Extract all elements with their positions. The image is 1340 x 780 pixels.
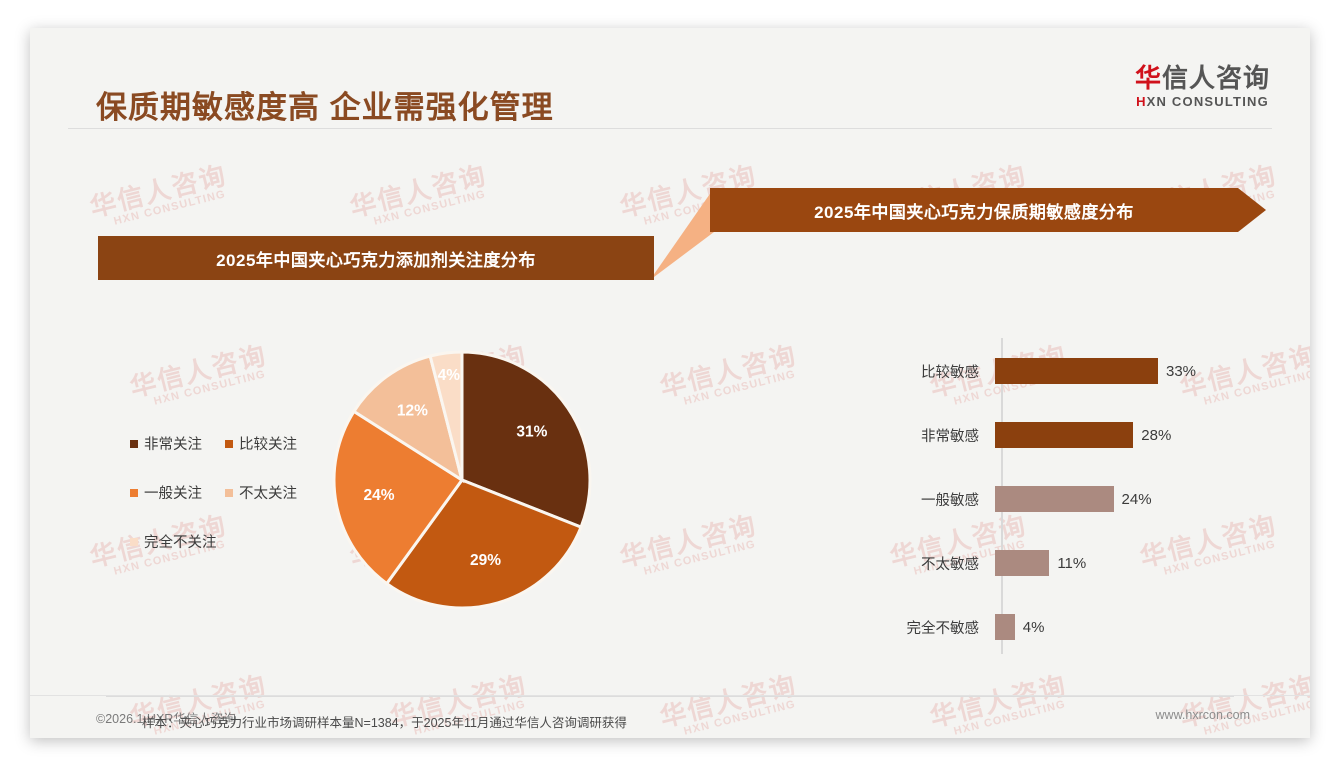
slide-canvas: 华信人咨询HXN CONSULTING华信人咨询HXN CONSULTING华信…	[30, 28, 1310, 738]
pie-slice-label: 12%	[397, 403, 428, 420]
bar-fill[interactable]	[995, 358, 1158, 384]
logo-english-text: HXN CONSULTING	[1135, 95, 1270, 109]
pie-chart: 31%29%24%12%4%	[332, 350, 592, 610]
banner-left: 2025年中国夹心巧克力添加剂关注度分布	[98, 236, 654, 280]
bar-chart-row[interactable]: 不太敏感11%	[890, 550, 1230, 576]
bar-track: 11%	[995, 550, 1086, 576]
bar-chart: 比较敏感33%非常敏感28%一般敏感24%不太敏感11%完全不敏感4%	[890, 328, 1230, 668]
logo-en-red: H	[1136, 94, 1147, 109]
pie-slice-label: 24%	[364, 487, 395, 504]
company-logo: 华信人咨询 HXN CONSULTING	[1135, 64, 1270, 109]
bar-fill[interactable]	[995, 550, 1049, 576]
bar-category-label: 一般敏感	[890, 489, 995, 510]
bar-track: 28%	[995, 422, 1171, 448]
pie-legend-label: 非常关注	[144, 433, 202, 454]
legend-swatch-icon	[130, 538, 138, 546]
banner-connector	[650, 188, 714, 280]
pie-legend-item[interactable]: 比较关注	[225, 433, 320, 454]
legend-swatch-icon	[225, 440, 233, 448]
bar-category-label: 完全不敏感	[890, 617, 995, 638]
bar-chart-row[interactable]: 比较敏感33%	[890, 358, 1230, 384]
bar-value-label: 24%	[1122, 491, 1152, 508]
bar-category-label: 非常敏感	[890, 425, 995, 446]
pie-slice-label: 31%	[516, 424, 547, 441]
banner-right-label: 2025年中国夹心巧克力保质期敏感度分布	[710, 188, 1238, 232]
pie-chart-svg: 31%29%24%12%4%	[332, 350, 592, 610]
pie-legend-item[interactable]: 一般关注	[130, 482, 225, 503]
footer-website: www.hxrcon.com	[1156, 708, 1250, 722]
bar-fill[interactable]	[995, 614, 1015, 640]
bar-value-label: 28%	[1141, 427, 1171, 444]
legend-swatch-icon	[130, 489, 138, 497]
bar-category-label: 比较敏感	[890, 361, 995, 382]
pie-legend-item[interactable]: 完全不关注	[130, 531, 225, 552]
header-divider	[68, 128, 1272, 129]
bar-chart-row[interactable]: 完全不敏感4%	[890, 614, 1230, 640]
pie-legend-item[interactable]: 不太关注	[225, 482, 320, 503]
bar-category-label: 不太敏感	[890, 553, 995, 574]
legend-swatch-icon	[225, 489, 233, 497]
bar-track: 4%	[995, 614, 1044, 640]
pie-legend-label: 不太关注	[239, 482, 297, 503]
bar-fill[interactable]	[995, 422, 1133, 448]
logo-chinese-text: 华信人咨询	[1135, 64, 1270, 93]
pie-legend-label: 一般关注	[144, 482, 202, 503]
source-note: 样本：夹心巧克力行业市场调研样本量N=1384，于2025年11月通过华信人咨询…	[142, 712, 627, 731]
bar-value-label: 4%	[1023, 619, 1045, 636]
bar-track: 24%	[995, 486, 1152, 512]
pie-legend: 非常关注比较关注一般关注不太关注完全不关注	[130, 433, 320, 580]
bar-track: 33%	[995, 358, 1196, 384]
pie-legend-item[interactable]: 非常关注	[130, 433, 225, 454]
legend-swatch-icon	[130, 440, 138, 448]
logo-en-rest: XN CONSULTING	[1147, 94, 1269, 109]
logo-cn-red: 华	[1135, 63, 1162, 93]
banner-left-label: 2025年中国夹心巧克力添加剂关注度分布	[216, 246, 536, 271]
pie-legend-label: 比较关注	[239, 433, 297, 454]
pie-slice-label: 29%	[470, 552, 501, 569]
logo-cn-rest: 信人咨询	[1162, 63, 1270, 93]
pie-slice-label: 4%	[438, 367, 461, 384]
page-title: 保质期敏感度高 企业需强化管理	[96, 82, 554, 127]
bar-chart-row[interactable]: 非常敏感28%	[890, 422, 1230, 448]
banner-right: 2025年中国夹心巧克力保质期敏感度分布	[710, 188, 1266, 232]
pie-legend-label: 完全不关注	[144, 531, 217, 552]
bar-fill[interactable]	[995, 486, 1114, 512]
bar-chart-row[interactable]: 一般敏感24%	[890, 486, 1230, 512]
bar-value-label: 11%	[1057, 555, 1086, 572]
bar-value-label: 33%	[1166, 363, 1196, 380]
